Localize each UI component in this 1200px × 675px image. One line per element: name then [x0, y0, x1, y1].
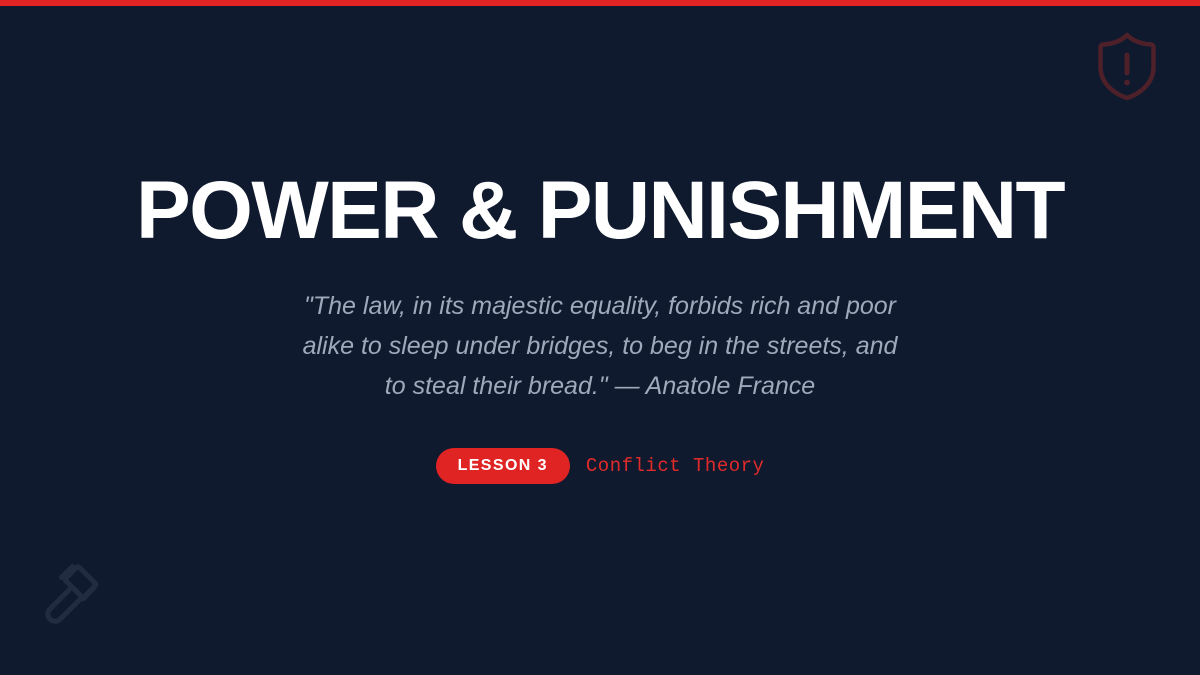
presentation-slide: POWER & PUNISHMENT "The law, in its maje…: [0, 0, 1200, 675]
lesson-meta-row: LESSON 3 Conflict Theory: [436, 448, 765, 484]
quote-line-2: alike to sleep under bridges, to beg in …: [270, 326, 930, 366]
topic-label: Conflict Theory: [586, 455, 765, 477]
quote-line-3: to steal their bread." — Anatole France: [270, 366, 930, 406]
page-title: POWER & PUNISHMENT: [136, 170, 1064, 252]
slide-content: POWER & PUNISHMENT "The law, in its maje…: [0, 0, 1200, 675]
lesson-badge: LESSON 3: [436, 448, 570, 484]
quote-line-1: "The law, in its majestic equality, forb…: [270, 286, 930, 326]
quote-block: "The law, in its majestic equality, forb…: [270, 286, 930, 406]
